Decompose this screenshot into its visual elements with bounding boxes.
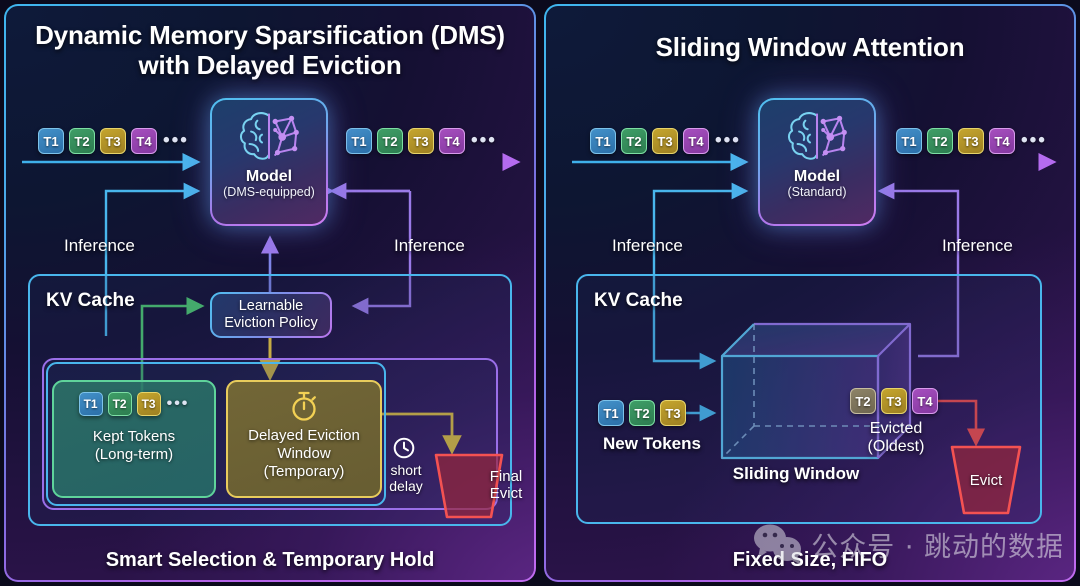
token-chip: T4 [439, 128, 465, 154]
final-evict-line1: Final [469, 468, 534, 485]
sliding-window-label: Sliding Window [712, 464, 880, 484]
policy-line1: Learnable [239, 298, 304, 314]
model-box-standard[interactable]: Model (Standard) [758, 98, 876, 226]
ellipsis: ••• [715, 130, 741, 152]
token-chip: T2 [850, 388, 876, 414]
right-panel-title: Sliding Window Attention [546, 32, 1074, 62]
delayed-line2: Window [248, 445, 360, 463]
left-panel-dms: Dynamic Memory Sparsification (DMS) with… [4, 4, 536, 582]
token-chip: T1 [346, 128, 372, 154]
kv-cache-label: KV Cache [46, 290, 135, 312]
new-tokens-label: New Tokens [592, 434, 712, 454]
left-output-tokens: T1 T2 T3 T4 ••• [346, 128, 497, 154]
final-evict-funnel[interactable]: Final Evict [432, 452, 506, 520]
right-input-tokens: T1 T2 T3 T4 ••• [590, 128, 741, 154]
model-box-dms[interactable]: Model (DMS-equipped) [210, 98, 328, 226]
kv-cache-label: KV Cache [594, 290, 683, 312]
left-panel-title: Dynamic Memory Sparsification (DMS) with… [6, 20, 534, 80]
token-chip: T2 [927, 128, 953, 154]
token-chip: T3 [660, 400, 686, 426]
brain-network-icon [782, 108, 852, 166]
inference-label-right: Inference [394, 236, 465, 256]
short-delay-line2: delay [380, 478, 432, 494]
left-panel-footer: Smart Selection & Temporary Hold [6, 549, 534, 572]
token-chip: T4 [131, 128, 157, 154]
token-chip: T1 [598, 400, 624, 426]
token-chip: T4 [683, 128, 709, 154]
token-chip: T3 [100, 128, 126, 154]
model-subtitle: (Standard) [787, 185, 846, 199]
token-chip: T4 [912, 388, 938, 414]
ellipsis: ••• [167, 395, 190, 413]
model-subtitle: (DMS-equipped) [223, 185, 315, 199]
short-delay-line1: short [380, 462, 432, 478]
inference-label-left: Inference [612, 236, 683, 256]
short-delay-label: short delay [380, 462, 432, 494]
model-name: Model [794, 168, 840, 186]
diagram-root: Dynamic Memory Sparsification (DMS) with… [0, 0, 1080, 586]
token-chip: T3 [137, 392, 161, 416]
stopwatch-icon [287, 389, 321, 423]
final-evict-line2: Evict [469, 485, 534, 502]
token-chip: T4 [989, 128, 1015, 154]
token-chip: T3 [958, 128, 984, 154]
left-title-line2: with Delayed Eviction [6, 50, 534, 80]
inference-label-left: Inference [64, 236, 135, 256]
token-chip: T2 [69, 128, 95, 154]
evicted-line2: (Oldest) [840, 438, 952, 456]
evicted-tokens-chips: T2 T3 T4 [850, 388, 938, 414]
right-panel-swa: Sliding Window Attention T1 T2 T3 T4 •••… [544, 4, 1076, 582]
token-chip: T3 [652, 128, 678, 154]
token-chip: T1 [896, 128, 922, 154]
kept-token-chips: T1 T2 T3 ••• [79, 392, 190, 416]
token-chip: T1 [38, 128, 64, 154]
delayed-eviction-window-box[interactable]: Delayed Eviction Window (Temporary) [226, 380, 382, 498]
left-title-line1: Dynamic Memory Sparsification (DMS) [6, 20, 534, 50]
right-panel-footer: Fixed Size, FIFO [546, 549, 1074, 572]
ellipsis: ••• [163, 130, 189, 152]
token-chip: T1 [79, 392, 103, 416]
evict-bin-label: Evict [948, 472, 1024, 489]
evicted-label: Evicted (Oldest) [840, 420, 952, 456]
left-input-tokens: T1 T2 T3 T4 ••• [38, 128, 189, 154]
inference-label-right: Inference [942, 236, 1013, 256]
token-chip: T2 [108, 392, 132, 416]
token-chip: T3 [408, 128, 434, 154]
delayed-line1: Delayed Eviction [248, 427, 360, 445]
kept-tokens-line1: Kept Tokens [93, 428, 175, 446]
token-chip: T2 [629, 400, 655, 426]
model-name: Model [246, 168, 292, 186]
token-chip: T3 [881, 388, 907, 414]
ellipsis: ••• [471, 130, 497, 152]
right-output-tokens: T1 T2 T3 T4 ••• [896, 128, 1047, 154]
evict-bin[interactable]: Evict [948, 444, 1024, 516]
token-chip: T1 [590, 128, 616, 154]
token-chip: T2 [621, 128, 647, 154]
clock-icon [392, 436, 416, 460]
new-tokens-chips: T1 T2 T3 [598, 400, 686, 426]
learnable-eviction-policy-box[interactable]: Learnable Eviction Policy [210, 292, 332, 338]
policy-line2: Eviction Policy [224, 315, 317, 331]
delayed-line3: (Temporary) [248, 463, 360, 481]
token-chip: T2 [377, 128, 403, 154]
brain-network-icon [234, 108, 304, 166]
ellipsis: ••• [1021, 130, 1047, 152]
kept-tokens-line2: (Long-term) [93, 446, 175, 464]
evicted-line1: Evicted [840, 420, 952, 438]
kept-tokens-box[interactable]: T1 T2 T3 ••• Kept Tokens (Long-term) [52, 380, 216, 498]
